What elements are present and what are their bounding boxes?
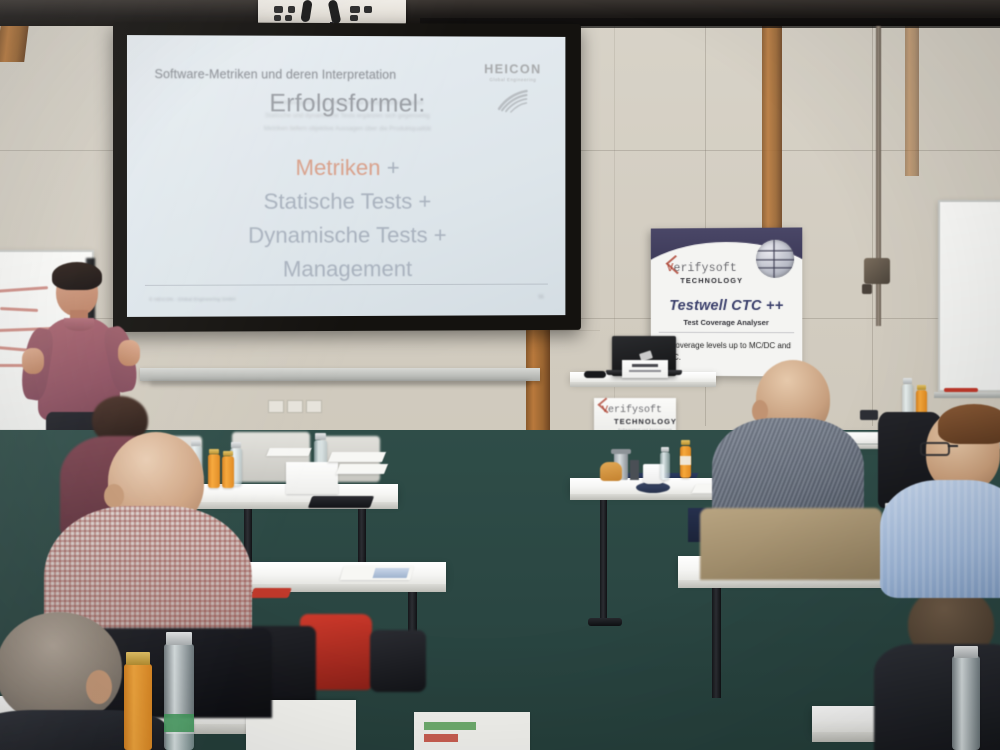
orange-juice-bottle	[124, 664, 152, 750]
bottle-cap	[681, 440, 690, 445]
small-jug	[630, 460, 639, 480]
lectern-brand-rest: erifysoft	[608, 405, 662, 416]
slide-footer-text: © HEICON - Global Engineering GmbH	[149, 296, 236, 301]
attendee-front-right	[880, 586, 1000, 750]
water-bottle	[164, 644, 194, 750]
slide-header: Software-Metriken und deren Interpretati…	[154, 68, 396, 83]
bottle-cap	[166, 632, 192, 645]
paper-sheet	[266, 448, 311, 456]
name-card-placard	[622, 360, 668, 378]
slide-heading: Erfolgsformel:	[127, 89, 565, 119]
wall-shelf-shadow	[150, 381, 530, 386]
name-card-placard	[286, 462, 338, 494]
water-bottle	[660, 452, 670, 480]
attendee-ear	[86, 670, 112, 704]
paper-sheet	[328, 452, 386, 462]
attendee-hair	[938, 404, 1000, 444]
attendee-ear	[104, 484, 124, 508]
whiteboard-right	[938, 200, 1000, 392]
banner-product-subtitle: Test Coverage Analyser	[651, 318, 802, 327]
glasses-icon	[920, 442, 950, 456]
table-foot	[588, 618, 622, 626]
projection-screen: Software-Metriken und deren Interpretati…	[113, 22, 581, 332]
banner-product-name: Testwell CTC ++	[651, 298, 802, 314]
projected-slide: Software-Metriken und deren Interpretati…	[127, 35, 565, 317]
formula-term: Metriken	[295, 155, 380, 180]
document-foreground	[414, 712, 530, 750]
attendee-head	[0, 612, 122, 724]
attendee-blue-shirt	[896, 404, 1000, 590]
whiteboard-marker	[944, 388, 978, 392]
brochure	[373, 568, 410, 578]
bottle-cap	[315, 433, 326, 440]
bottle-label	[680, 456, 691, 465]
wood-beam	[762, 26, 782, 241]
chair-back	[700, 508, 882, 580]
brand-subtitle: TECHNOLOGY	[680, 276, 743, 285]
wall-bracket	[864, 258, 890, 284]
thermos-lid	[611, 449, 631, 454]
wall-seam	[872, 26, 873, 426]
presenter-desk-edge	[570, 382, 716, 387]
presenter-hair	[52, 262, 102, 290]
presenter-collar	[64, 318, 94, 331]
formula-term: Dynamische Tests	[248, 223, 428, 248]
attendee-torso	[874, 644, 1000, 750]
pastry	[600, 462, 622, 481]
bottle-cap	[903, 378, 912, 384]
heicon-logo-subtitle: Global Engineering	[484, 77, 542, 82]
wall-bracket-bolt	[862, 284, 872, 294]
wood-beam	[905, 26, 919, 176]
attendee-shirt	[880, 480, 1000, 598]
water-bottle	[952, 656, 980, 750]
slide-page-number: 55	[538, 294, 543, 300]
wall-socket	[268, 400, 284, 413]
formula-term: Statische Tests	[264, 189, 413, 214]
glasses-bridge	[948, 445, 958, 447]
document-color-band	[424, 722, 476, 730]
banner-brand-logo: Verifysoft TECHNOLOGY	[667, 262, 744, 285]
banner-divider	[659, 332, 794, 333]
bottle-cap	[126, 652, 150, 665]
coffee-table-edge	[570, 494, 726, 500]
seminar-room-photo: Software-Metriken und deren Interpretati…	[0, 0, 1000, 750]
table-leg	[600, 500, 607, 624]
bottle-cap	[954, 646, 978, 658]
bottle-cap	[661, 447, 669, 452]
bottle-label	[164, 714, 194, 732]
ghost-line: Metriken liefern objektive Aussagen über…	[180, 122, 513, 136]
slide-formula: Metriken + Statische Tests + Dynamische …	[127, 151, 565, 288]
whiteboard-tray	[934, 392, 1000, 398]
presenter-remote	[584, 371, 606, 378]
document-color-band	[424, 734, 458, 742]
black-bag	[370, 630, 426, 692]
heicon-logo-name: HEICON	[484, 62, 542, 77]
lectern-brand-subtitle: TECHNOLOGY	[614, 417, 677, 426]
paper-sheet	[336, 464, 388, 474]
wall-shelf	[140, 368, 540, 381]
formula-term: Management	[283, 256, 412, 281]
laptop-closed	[308, 496, 374, 508]
banner-globe-icon	[756, 240, 794, 278]
wall-socket	[306, 400, 322, 413]
presenter-left-hand	[22, 348, 44, 374]
wall-socket	[287, 400, 303, 413]
bottle-cap	[917, 385, 926, 390]
table-leg	[712, 588, 721, 698]
presenter-right-hand	[118, 340, 140, 366]
